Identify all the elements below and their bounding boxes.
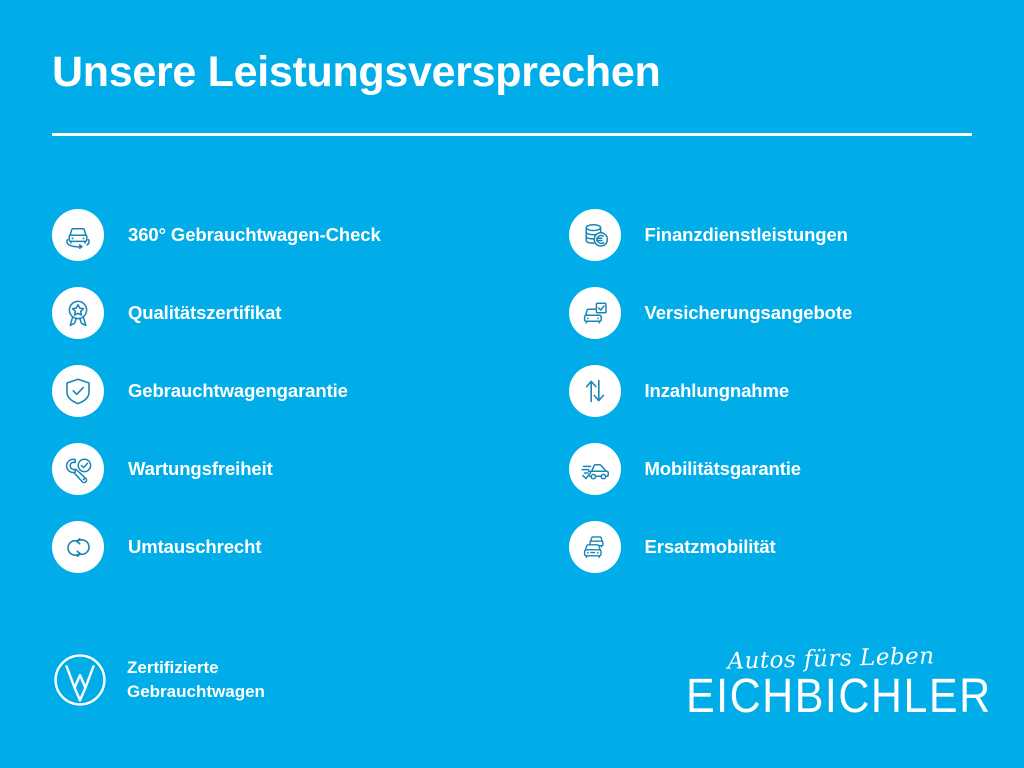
feature-label: Umtauschrecht xyxy=(128,536,261,558)
car-checkbox-icon xyxy=(569,287,621,339)
feature-item[interactable]: Wartungsfreiheit xyxy=(52,430,508,508)
wrench-check-icon xyxy=(52,443,104,495)
feature-item[interactable]: Mobilitätsgarantie xyxy=(569,430,1024,508)
feature-label: Finanzdienstleistungen xyxy=(645,224,848,246)
feature-label: Qualitätszertifikat xyxy=(128,302,281,324)
feature-item[interactable]: Versicherungsangebote xyxy=(569,274,1024,352)
two-cars-icon xyxy=(569,521,621,573)
feature-item[interactable]: Ersatzmobilität xyxy=(569,508,1024,586)
feature-label: Versicherungsangebote xyxy=(645,302,853,324)
feature-label: Wartungsfreiheit xyxy=(128,458,273,480)
feature-item[interactable]: Umtauschrecht xyxy=(52,508,508,586)
features-column-right: Finanzdienstleistungen Versicheru xyxy=(508,196,1024,586)
exchange-arrows-icon xyxy=(52,521,104,573)
dealer-name: EICHBICHLER xyxy=(686,673,976,721)
vw-certified-line2: Gebrauchtwagen xyxy=(127,680,265,704)
award-rosette-icon xyxy=(52,287,104,339)
vw-certified-badge: Zertifizierte Gebrauchtwagen xyxy=(52,652,265,708)
features-grid: 360° Gebrauchtwagen-Check Qualitätszerti… xyxy=(0,196,1024,586)
features-column-left: 360° Gebrauchtwagen-Check Qualitätszerti… xyxy=(0,196,508,586)
feature-item[interactable]: Inzahlungnahme xyxy=(569,352,1024,430)
car-360-check-icon xyxy=(52,209,104,261)
dealer-logo: Autos fürs Leben EICHBICHLER xyxy=(686,648,976,716)
vw-certified-line1: Zertifizierte xyxy=(127,656,265,680)
shield-check-icon xyxy=(52,365,104,417)
vw-certified-text: Zertifizierte Gebrauchtwagen xyxy=(127,656,265,704)
feature-label: 360° Gebrauchtwagen-Check xyxy=(128,224,381,246)
feature-item[interactable]: Gebrauchtwagengarantie xyxy=(52,352,508,430)
page-title: Unsere Leistungsversprechen xyxy=(52,48,660,97)
feature-item[interactable]: Finanzdienstleistungen xyxy=(569,196,1024,274)
slide-root: Unsere Leistungsversprechen xyxy=(0,0,1024,768)
feature-label: Inzahlungnahme xyxy=(645,380,790,402)
title-divider xyxy=(52,133,972,136)
feature-item[interactable]: 360° Gebrauchtwagen-Check xyxy=(52,196,508,274)
car-motion-check-icon xyxy=(569,443,621,495)
coins-euro-icon xyxy=(569,209,621,261)
feature-item[interactable]: Qualitätszertifikat xyxy=(52,274,508,352)
feature-label: Gebrauchtwagengarantie xyxy=(128,380,348,402)
feature-label: Ersatzmobilität xyxy=(645,536,776,558)
vw-logo-icon xyxy=(52,652,108,708)
arrows-up-down-icon xyxy=(569,365,621,417)
feature-label: Mobilitätsgarantie xyxy=(645,458,802,480)
